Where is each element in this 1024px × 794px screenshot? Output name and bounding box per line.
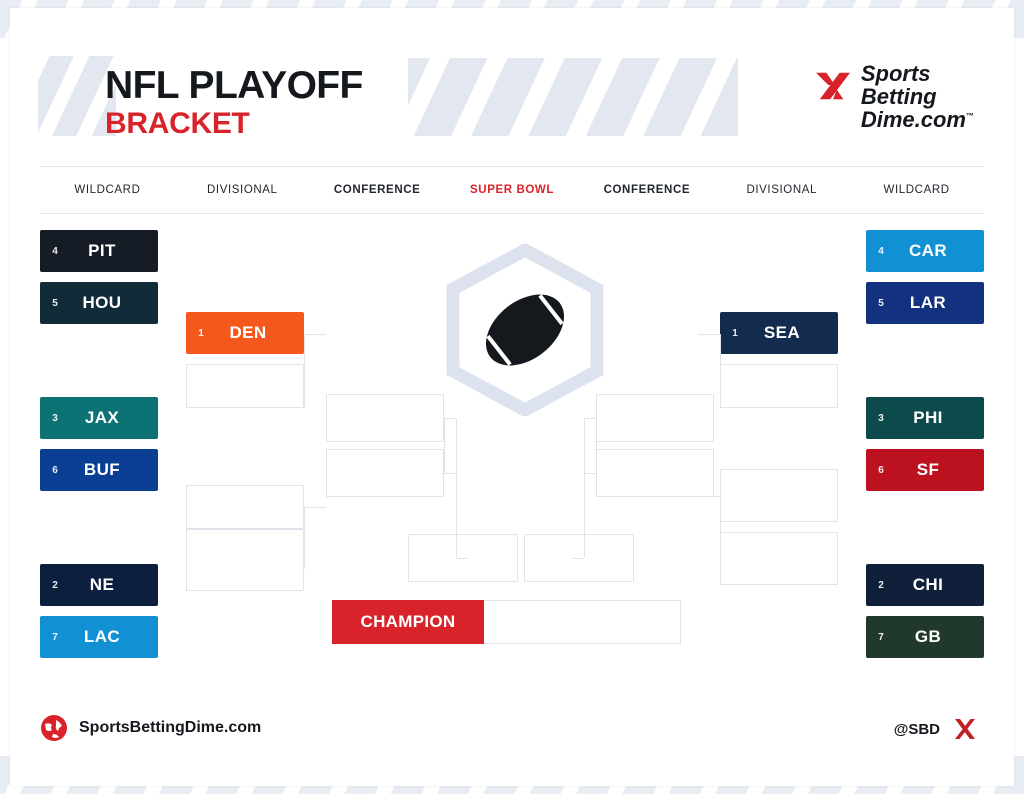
- slot-right-divisional-3[interactable]: [720, 532, 838, 585]
- seed-number: 1: [720, 328, 750, 339]
- footer-social[interactable]: @SBD: [894, 716, 978, 742]
- brand-wordmark: Sports Betting Dime.com™: [861, 63, 974, 132]
- connector-left-1: [304, 334, 305, 408]
- round-header-divisional-left: DIVISIONAL: [175, 184, 310, 196]
- seed-number: 7: [40, 632, 70, 643]
- team-abbr: NE: [70, 575, 158, 595]
- slot-left-conference-1[interactable]: [326, 394, 444, 442]
- hexagon-icon: [442, 244, 608, 416]
- connector-right-3: [720, 496, 721, 558]
- title-main: NFL PLAYOFF: [105, 66, 363, 106]
- seed-number: 6: [866, 465, 896, 476]
- slot-left-conference-2[interactable]: [326, 449, 444, 497]
- globe-icon: [40, 714, 68, 742]
- brand-line-3: Dime.com™: [861, 109, 974, 132]
- connector-left-5: [444, 418, 445, 473]
- team-abbr: SF: [896, 460, 984, 480]
- team-chip-car[interactable]: 4 CAR: [866, 230, 984, 272]
- team-abbr: PHI: [896, 408, 984, 428]
- round-header-divisional-right: DIVISIONAL: [714, 184, 849, 196]
- slot-left-divisional-2[interactable]: [186, 485, 304, 529]
- connector-right-1: [720, 334, 721, 408]
- team-abbr: DEN: [216, 323, 304, 343]
- team-chip-pit[interactable]: 4 PIT: [40, 230, 158, 272]
- page-footer: SportsBettingDime.com @SBD: [10, 708, 1014, 758]
- round-header-super-bowl: SUPER BOWL: [445, 184, 580, 196]
- connector-right-6: [584, 418, 596, 419]
- seed-number: 5: [866, 298, 896, 309]
- seed-number: 2: [40, 580, 70, 591]
- brand-trademark: ™: [966, 111, 974, 120]
- team-chip-hou[interactable]: 5 HOU: [40, 282, 158, 324]
- team-abbr: CAR: [896, 241, 984, 261]
- team-abbr: BUF: [70, 460, 158, 480]
- center-emblem: [442, 244, 608, 416]
- round-header-row: WILDCARD DIVISIONAL CONFERENCE SUPER BOW…: [40, 166, 984, 214]
- team-abbr: GB: [896, 627, 984, 647]
- connector-left-3: [304, 507, 305, 569]
- champion-row[interactable]: CHAMPION: [332, 600, 681, 644]
- team-abbr: JAX: [70, 408, 158, 428]
- slot-left-divisional-3[interactable]: [186, 529, 304, 591]
- team-abbr: SEA: [750, 323, 838, 343]
- slot-right-divisional-2[interactable]: [720, 469, 838, 522]
- team-abbr: HOU: [70, 293, 158, 313]
- football-icon: [472, 280, 577, 380]
- connector-left-7: [444, 473, 456, 474]
- champion-label: CHAMPION: [332, 600, 484, 644]
- footer-handle: @SBD: [894, 721, 940, 738]
- champion-value-box[interactable]: [484, 600, 681, 644]
- connector-right-5: [596, 418, 597, 473]
- seed-number: 3: [40, 413, 70, 424]
- brand-dime: Dime: [861, 107, 915, 132]
- seed-number: 3: [866, 413, 896, 424]
- x-social-icon: [952, 716, 978, 742]
- seed-number: 4: [40, 246, 70, 257]
- seed-number: 4: [866, 246, 896, 257]
- seed-number: 5: [40, 298, 70, 309]
- team-chip-phi[interactable]: 3 PHI: [866, 397, 984, 439]
- footer-site[interactable]: SportsBettingDime.com: [40, 714, 261, 742]
- brand-line-1: Sports: [861, 63, 974, 86]
- team-chip-den[interactable]: 1 DEN: [186, 312, 304, 354]
- bracket-area: 4 PIT 5 HOU 3 JAX 6 BUF 2 NE 7 LAC: [10, 214, 1014, 684]
- seed-number: 1: [186, 328, 216, 339]
- brand-dotcom: .com: [915, 107, 966, 132]
- connector-right-7: [584, 473, 596, 474]
- team-chip-sea[interactable]: 1 SEA: [720, 312, 838, 354]
- footer-site-text: SportsBettingDime.com: [79, 719, 261, 737]
- connector-left-6: [444, 418, 456, 419]
- bracket-card: NFL PLAYOFF BRACKET Sports Betting Dime.…: [10, 8, 1014, 786]
- connector-left-4: [304, 507, 326, 508]
- title-sub: BRACKET: [105, 108, 363, 140]
- slot-right-conference-1[interactable]: [596, 394, 714, 442]
- round-header-wildcard-right: WILDCARD: [849, 184, 984, 196]
- page-title: NFL PLAYOFF BRACKET: [105, 66, 363, 139]
- slot-left-divisional-1[interactable]: [186, 364, 304, 408]
- team-chip-lar[interactable]: 5 LAR: [866, 282, 984, 324]
- connector-left-2: [304, 334, 326, 335]
- team-abbr: PIT: [70, 241, 158, 261]
- team-chip-buf[interactable]: 6 BUF: [40, 449, 158, 491]
- connector-left-8: [456, 418, 457, 558]
- slot-right-conference-2[interactable]: [596, 449, 714, 497]
- bracket-page: NFL PLAYOFF BRACKET Sports Betting Dime.…: [0, 0, 1024, 794]
- slot-right-divisional-1[interactable]: [720, 364, 838, 408]
- connector-right-2: [698, 334, 720, 335]
- connector-left-9: [456, 558, 468, 559]
- team-abbr: CHI: [896, 575, 984, 595]
- round-header-wildcard-left: WILDCARD: [40, 184, 175, 196]
- brand-line-2: Betting: [861, 86, 974, 109]
- connector-right-9: [572, 558, 584, 559]
- connector-right-4: [698, 496, 720, 497]
- team-abbr: LAR: [896, 293, 984, 313]
- header-stripes-middle: [408, 58, 738, 136]
- seed-number: 7: [866, 632, 896, 643]
- x-mark-icon: [814, 69, 852, 103]
- round-header-conference-right: CONFERENCE: [579, 184, 714, 196]
- team-abbr: LAC: [70, 627, 158, 647]
- team-chip-lac[interactable]: 7 LAC: [40, 616, 158, 658]
- seed-number: 6: [40, 465, 70, 476]
- round-header-conference-left: CONFERENCE: [310, 184, 445, 196]
- connector-right-8: [584, 418, 585, 558]
- team-chip-ne[interactable]: 2 NE: [40, 564, 158, 606]
- team-chip-gb[interactable]: 7 GB: [866, 616, 984, 658]
- team-chip-jax[interactable]: 3 JAX: [40, 397, 158, 439]
- team-chip-sf[interactable]: 6 SF: [866, 449, 984, 491]
- seed-number: 2: [866, 580, 896, 591]
- brand-logo[interactable]: Sports Betting Dime.com™: [814, 63, 974, 132]
- team-chip-chi[interactable]: 2 CHI: [866, 564, 984, 606]
- page-header: NFL PLAYOFF BRACKET Sports Betting Dime.…: [10, 8, 1014, 160]
